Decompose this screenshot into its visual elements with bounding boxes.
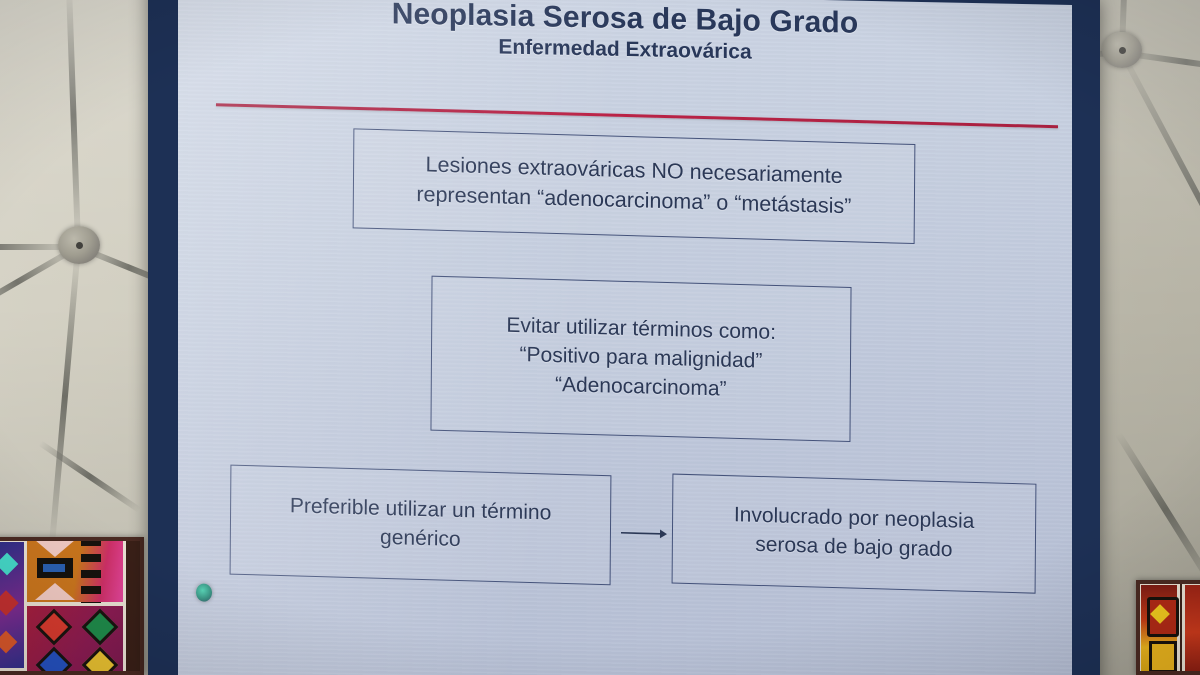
- arrow-right-icon: [620, 526, 668, 541]
- woven-textile-right: [1136, 580, 1200, 675]
- preferred-wording-box-text: Involucrado por neoplasia serosa de bajo…: [723, 497, 984, 570]
- avoid-terms-box-text: Evitar utilizar términos como: “Positivo…: [496, 307, 786, 410]
- projector-screen-frame: Neoplasia Serosa de Bajo Grado Enfermeda…: [148, 0, 1100, 675]
- screenshot-stage: Neoplasia Serosa de Bajo Grado Enfermeda…: [0, 0, 1200, 675]
- woven-textile-left: [0, 537, 144, 675]
- slide-title-block: Neoplasia Serosa de Bajo Grado Enfermeda…: [178, 0, 1072, 71]
- statement-box-text: Lesiones extraováricas NO necesariamente…: [406, 146, 861, 226]
- avoid-terms-box: Evitar utilizar términos como: “Positivo…: [430, 276, 851, 442]
- preferred-wording-box: Involucrado por neoplasia serosa de bajo…: [672, 474, 1037, 594]
- presentation-slide: Neoplasia Serosa de Bajo Grado Enfermeda…: [178, 0, 1072, 675]
- textile-frame: [1136, 580, 1200, 675]
- projector-screen: Neoplasia Serosa de Bajo Grado Enfermeda…: [178, 0, 1072, 675]
- preferred-approach-box-text: Preferible utilizar un término genérico: [280, 488, 562, 562]
- title-divider-rule: [216, 103, 1058, 128]
- statement-box: Lesiones extraováricas NO necesariamente…: [353, 128, 916, 244]
- textile-frame: [0, 537, 144, 675]
- preferred-approach-box: Preferible utilizar un término genérico: [230, 465, 612, 586]
- text-line: serosa de bajo grado: [734, 530, 975, 566]
- status-dot-icon: [196, 583, 212, 601]
